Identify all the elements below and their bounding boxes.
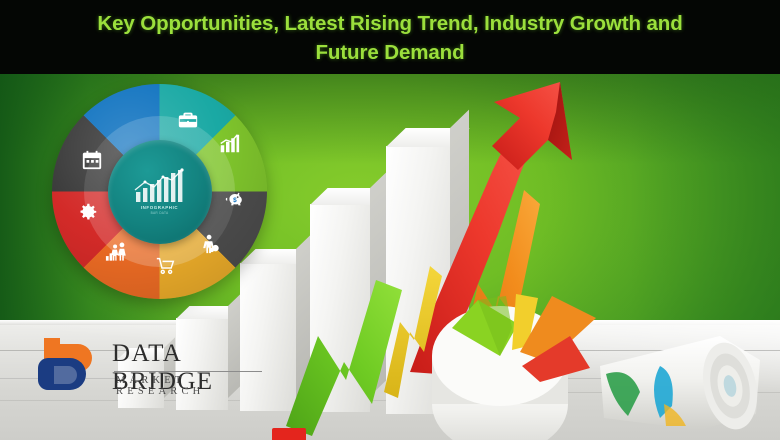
bar-4 xyxy=(310,204,370,412)
bar-5 xyxy=(386,146,450,414)
page-title-line1: Key Opportunities, Latest Rising Trend, … xyxy=(97,12,682,35)
wheel-center-hub: INFOGRAPHIC BAR DATA xyxy=(108,140,212,244)
hub-label: INFOGRAPHIC xyxy=(141,205,178,210)
bar-3-side xyxy=(296,235,311,397)
banner-header: Key Opportunities, Latest Rising Trend, … xyxy=(0,0,780,74)
bar-4-side xyxy=(370,172,387,396)
data-bridge-mark-icon xyxy=(36,332,110,402)
desk-line xyxy=(520,392,780,393)
marketing-banner: $ xyxy=(0,0,780,440)
bar-5-side xyxy=(450,110,469,396)
logo-subtitle: MARKET RESEARCH xyxy=(116,375,266,397)
page-title-line2: Future Demand xyxy=(10,38,770,67)
banner-image: $ xyxy=(0,74,780,440)
company-logo[interactable]: DATA BRIDGE MARKET RESEARCH xyxy=(36,330,266,402)
hub-bar-chart-icon xyxy=(132,168,188,204)
page-title: Key Opportunities, Latest Rising Trend, … xyxy=(10,7,770,67)
logo-divider xyxy=(114,371,262,372)
hub-sublabel: BAR DATA xyxy=(151,211,169,215)
infographic-wheel: $ xyxy=(52,84,267,299)
